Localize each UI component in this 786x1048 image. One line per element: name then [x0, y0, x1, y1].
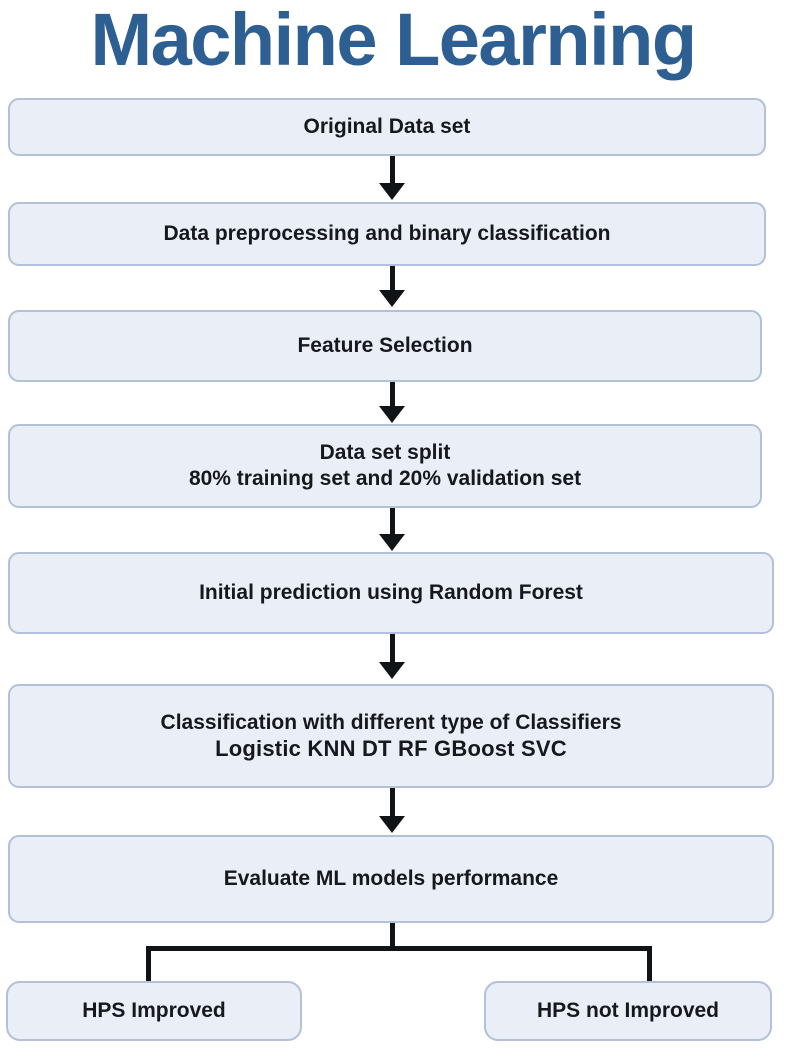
node-label: Feature Selection	[297, 333, 472, 359]
node-label: HPS not Improved	[537, 998, 719, 1024]
connector-3-arrowhead	[379, 406, 405, 423]
node-data-set-split[interactable]: Data set split 80% training set and 20% …	[8, 424, 762, 508]
connector-2-arrowhead	[379, 290, 405, 307]
node-original-data-set[interactable]: Original Data set	[8, 98, 766, 156]
node-data-preprocessing[interactable]: Data preprocessing and binary classifica…	[8, 202, 766, 266]
node-hps-not-improved[interactable]: HPS not Improved	[484, 981, 772, 1041]
node-label: HPS Improved	[82, 998, 226, 1024]
page-title: Machine Learning	[0, 0, 786, 84]
node-label-classifiers: Logistic KNN DT RF GBoost SVC	[215, 736, 567, 762]
node-label: Original Data set	[304, 114, 471, 140]
branch-left-drop	[146, 946, 151, 984]
node-label: Evaluate ML models performance	[224, 866, 559, 892]
connector-1-arrowhead	[379, 183, 405, 200]
branch-horizontal-bar	[146, 946, 652, 951]
node-initial-prediction[interactable]: Initial prediction using Random Forest	[8, 552, 774, 634]
node-label-line2: 80% training set and 20% validation set	[189, 466, 581, 492]
node-label: Data preprocessing and binary classifica…	[164, 221, 611, 247]
node-hps-improved[interactable]: HPS Improved	[6, 981, 302, 1041]
node-label: Initial prediction using Random Forest	[199, 580, 583, 606]
flowchart-canvas: Machine Learning Original Data set Data …	[0, 0, 786, 1048]
node-feature-selection[interactable]: Feature Selection	[8, 310, 762, 382]
node-label-line1: Classification with different type of Cl…	[161, 710, 622, 736]
node-classification-classifiers[interactable]: Classification with different type of Cl…	[8, 684, 774, 788]
connector-6-arrowhead	[379, 816, 405, 833]
node-evaluate-performance[interactable]: Evaluate ML models performance	[8, 835, 774, 923]
branch-right-drop	[647, 946, 652, 984]
connector-5-arrowhead	[379, 662, 405, 679]
connector-4-arrowhead	[379, 534, 405, 551]
node-label-line1: Data set split	[320, 440, 451, 466]
